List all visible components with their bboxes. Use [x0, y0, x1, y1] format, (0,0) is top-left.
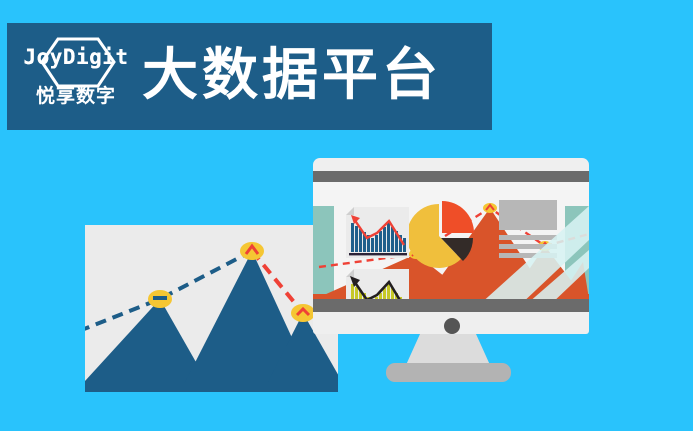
left-mountain-chart-panel	[85, 225, 338, 392]
brand-wordmark: JoyDigit	[20, 47, 132, 68]
placeholder-image	[499, 200, 557, 230]
screen-card-blue	[346, 207, 409, 258]
monitor-stand	[398, 334, 498, 365]
header-banner: JoyDigit 悦享数字 大数据平台	[7, 23, 492, 130]
screen-card-yellow	[346, 269, 409, 299]
monitor-screen	[313, 182, 589, 299]
placeholder-line	[499, 244, 557, 249]
brand-subtitle: 悦享数字	[20, 87, 132, 106]
placeholder-line	[499, 253, 557, 258]
left-mountain-chart-svg	[85, 225, 338, 392]
brand-logo: JoyDigit 悦享数字	[20, 29, 132, 124]
monitor	[313, 158, 589, 334]
monitor-base	[386, 363, 511, 382]
monitor-top-bezel	[313, 171, 589, 182]
monitor-bottom-bezel	[313, 299, 589, 312]
poster-canvas: JoyDigit 悦享数字 大数据平台	[0, 0, 693, 431]
page-title: 大数据平台	[142, 47, 442, 103]
placeholder-line	[499, 235, 557, 240]
power-button-icon[interactable]	[444, 318, 460, 334]
